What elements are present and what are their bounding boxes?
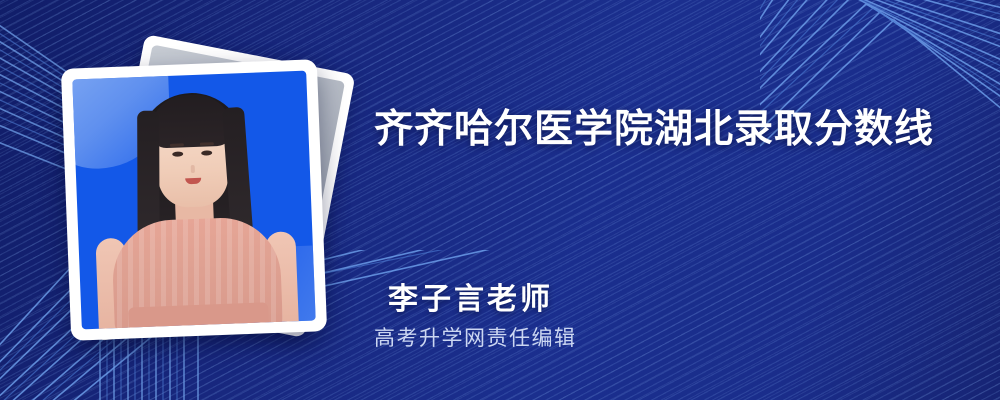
author-role: 高考升学网责任编辑 bbox=[374, 322, 577, 352]
article-header-banner: 齐齐哈尔医学院湖北录取分数线 李子言老师 高考升学网责任编辑 bbox=[0, 0, 1000, 400]
portrait-brow-right bbox=[200, 142, 214, 146]
portrait-dress-waist bbox=[128, 302, 269, 329]
portrait-nose bbox=[191, 165, 195, 173]
portrait-figure bbox=[72, 71, 315, 330]
portrait-brow-left bbox=[170, 143, 184, 147]
editor-portrait-photo bbox=[72, 71, 315, 330]
editor-photo-card bbox=[61, 59, 327, 341]
author-name: 李子言老师 bbox=[388, 274, 553, 318]
page-title: 齐齐哈尔医学院湖北录取分数线 bbox=[374, 98, 934, 154]
